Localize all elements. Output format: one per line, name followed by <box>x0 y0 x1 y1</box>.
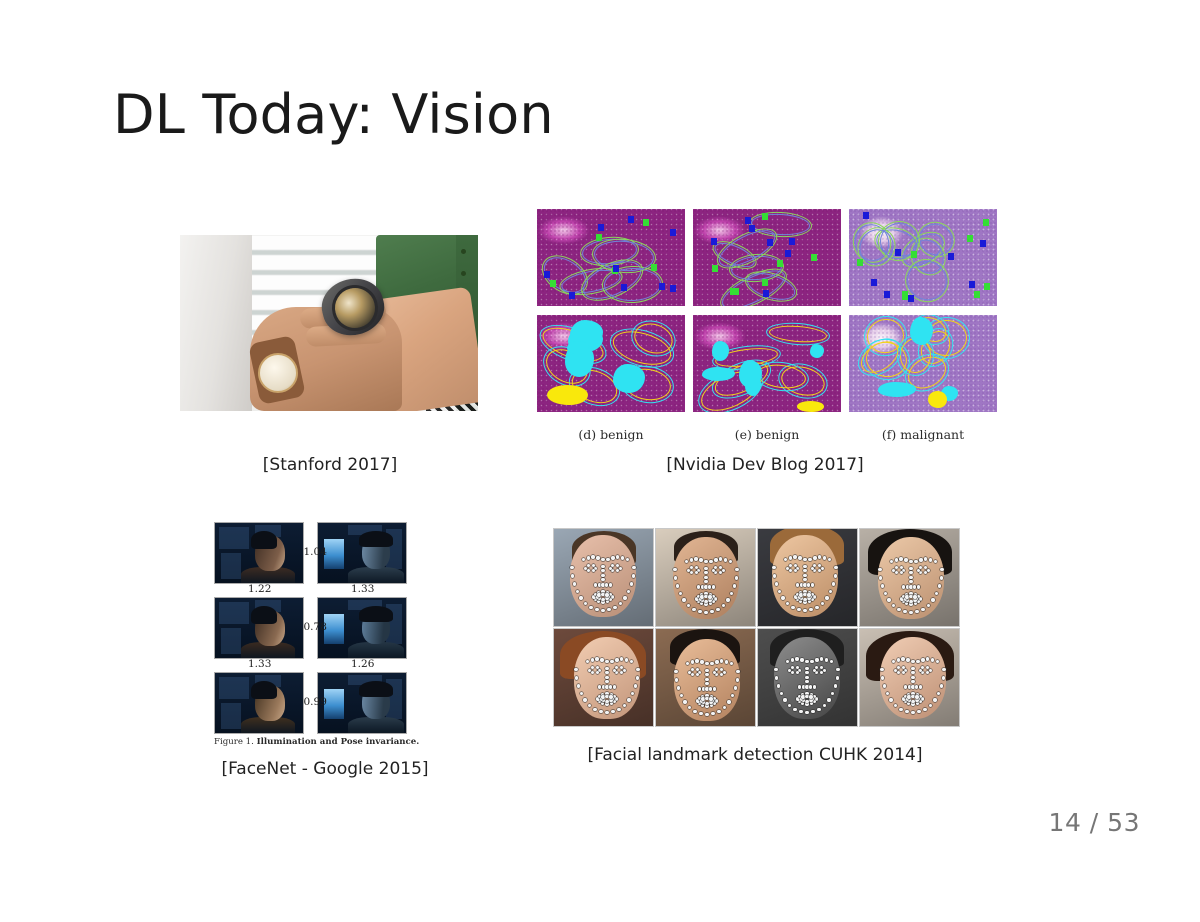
landmark-point <box>811 567 814 570</box>
landmark-point <box>713 687 716 690</box>
nucleus-marker-blue <box>621 284 627 291</box>
landmark-point <box>601 598 604 601</box>
nucleus-marker-green <box>911 251 917 258</box>
face-landmark-cell <box>859 628 960 727</box>
nucleus-marker-green <box>983 219 989 226</box>
nucleus-marker-green <box>857 259 863 266</box>
landmark-point <box>712 585 715 588</box>
landmark-point <box>815 658 818 661</box>
landmark-point <box>735 576 738 579</box>
landmark-point <box>811 710 814 713</box>
landmark-point <box>611 710 614 713</box>
nucleus-marker-green <box>550 280 556 287</box>
face-landmark-cell <box>553 628 654 727</box>
landmark-point <box>619 602 622 605</box>
landmark-point <box>791 658 794 661</box>
landmark-point <box>596 556 599 559</box>
landmark-point <box>911 676 914 679</box>
nucleus-marker-blue <box>884 291 890 298</box>
landmark-point <box>906 658 909 661</box>
landmark-point <box>605 593 608 596</box>
landmark-point <box>605 583 608 586</box>
segmentation-blob-cyan <box>739 360 762 388</box>
landmark-point <box>915 685 918 688</box>
landmark-point <box>803 574 806 577</box>
landmark-point <box>704 567 707 570</box>
landmark-point <box>704 576 707 579</box>
landmark-point <box>601 695 604 698</box>
landmark-point <box>676 584 679 587</box>
facenet-face-cell <box>317 672 407 734</box>
landmark-point <box>613 685 616 688</box>
landmark-point <box>722 569 725 572</box>
facenet-distance-below-left-2: 1.33 <box>248 658 271 670</box>
landmark-point <box>799 593 802 596</box>
nucleus-marker-blue <box>628 216 634 223</box>
landmark-point <box>778 590 781 593</box>
nucleus-marker-blue <box>670 229 676 236</box>
facenet-figure-caption: Figure 1. Illumination and Pose invarian… <box>214 737 419 747</box>
facenet-face-cell <box>214 597 304 659</box>
landmark-point <box>773 574 776 577</box>
nucleus-marker-blue <box>948 253 954 260</box>
landmark-point <box>887 598 890 601</box>
nucleus-marker-blue <box>785 250 791 257</box>
landmark-point <box>704 560 707 563</box>
landmark-point <box>821 567 824 570</box>
facenet-distance-below-right-2: 1.26 <box>351 658 374 670</box>
landmark-point <box>595 657 598 660</box>
landmark-point <box>709 687 712 690</box>
landmark-point <box>895 558 898 561</box>
landmark-point <box>813 669 816 672</box>
nucleus-marker-blue <box>613 265 619 272</box>
landmark-point <box>705 678 708 681</box>
landmark-point <box>692 608 695 611</box>
nucleus-marker-blue <box>749 225 755 232</box>
landmark-point <box>929 669 932 672</box>
segmentation-blob-yellow <box>928 391 947 407</box>
landmark-point <box>914 560 917 563</box>
landmark-point <box>881 676 884 679</box>
sweater-button <box>461 249 466 254</box>
landmark-point <box>915 610 918 613</box>
landmark-point <box>573 582 576 585</box>
landmark-point <box>683 700 686 703</box>
landmark-point <box>708 595 711 598</box>
landmark-point <box>682 598 685 601</box>
landmark-point <box>797 608 800 611</box>
equipment-rack <box>219 527 249 549</box>
landmark-point <box>911 660 914 663</box>
nucleus-marker-blue <box>980 240 986 247</box>
histology-sublabel: (f) malignant <box>849 427 997 442</box>
landmark-point <box>803 593 806 596</box>
landmark-point <box>813 556 816 559</box>
landmark-point <box>921 658 924 661</box>
landmark-point <box>704 600 707 603</box>
landmark-point <box>704 595 707 598</box>
landmark-point <box>927 569 930 572</box>
landmark-point <box>917 569 920 572</box>
landmark-point <box>909 611 912 614</box>
landmark-point <box>597 593 600 596</box>
landmark-point <box>619 567 622 570</box>
landmark-point <box>693 710 696 713</box>
landmark-point <box>805 711 808 714</box>
nucleus-marker-green <box>811 254 817 261</box>
landmark-point <box>901 657 904 660</box>
landmark-point <box>909 560 912 563</box>
sweater-button <box>461 271 466 276</box>
segmentation-blob-cyan <box>878 382 916 396</box>
landmark-point <box>675 678 678 681</box>
landmark-point <box>709 697 712 700</box>
landmark-point <box>712 569 715 572</box>
landmark-point <box>591 555 594 558</box>
landmark-point <box>698 610 701 613</box>
landmark-point <box>605 695 608 698</box>
segmentation-blob-yellow <box>547 385 588 405</box>
landmark-point <box>927 604 930 607</box>
landmark-point <box>610 660 613 663</box>
landmark-point <box>587 556 590 559</box>
stanford-dermatoscope-image <box>180 235 478 411</box>
landmark-point <box>617 708 620 711</box>
subject-hair <box>359 606 393 622</box>
landmark-point <box>800 658 803 661</box>
landmark-point <box>679 592 682 595</box>
landmark-point <box>677 686 680 689</box>
landmark-point <box>605 711 608 714</box>
histology-sublabel: (d) benign <box>537 427 685 442</box>
landmark-point <box>605 660 608 663</box>
landmark-point <box>607 608 610 611</box>
computer-monitor <box>324 539 344 569</box>
caption-stanford: [Stanford 2017] <box>180 455 480 475</box>
landmark-point <box>889 698 892 701</box>
landmark-point <box>803 558 806 561</box>
landmark-point <box>809 685 812 688</box>
landmark-point <box>899 708 902 711</box>
landmark-point <box>711 712 714 715</box>
landmark-point <box>907 695 910 698</box>
landmark-point <box>815 606 818 609</box>
landmark-point <box>717 710 720 713</box>
landmark-point <box>803 609 806 612</box>
landmark-point <box>700 595 703 598</box>
segmentation-blob-cyan <box>702 367 735 381</box>
subject-hair <box>359 531 393 547</box>
landmark-point <box>705 662 708 665</box>
landmark-point <box>716 608 719 611</box>
landmark-point <box>940 576 943 579</box>
landmark-point <box>615 658 618 661</box>
landmark-point <box>704 611 707 614</box>
landmark-point <box>919 558 922 561</box>
landmark-point <box>601 574 604 577</box>
landmark-point <box>789 556 792 559</box>
landmark-point <box>897 658 900 661</box>
landmark-point <box>710 610 713 613</box>
landmark-point <box>708 585 711 588</box>
caption-nvidia: [Nvidia Dev Blog 2017] <box>610 455 920 475</box>
nucleus-marker-green <box>733 288 739 295</box>
landmark-point <box>825 596 828 599</box>
figure-caption-bold: Illumination and Pose invariance. <box>257 737 420 747</box>
landmark-point <box>593 708 596 711</box>
nucleus-marker-green <box>643 219 649 226</box>
landmark-point <box>705 669 708 672</box>
landmark-point <box>807 593 810 596</box>
face-landmark-cell <box>757 528 858 627</box>
landmark-point <box>909 576 912 579</box>
cuhk-facial-landmark-figure <box>553 528 958 727</box>
landmark-point <box>699 712 702 715</box>
landmark-point <box>836 676 839 679</box>
nucleus-marker-green <box>967 235 973 242</box>
landmark-point <box>809 608 812 611</box>
figure-caption-prefix: Figure 1. <box>214 737 257 747</box>
landmark-point <box>606 558 609 561</box>
landmark-point <box>911 695 914 698</box>
landmark-point <box>589 606 592 609</box>
landmark-point <box>601 558 604 561</box>
landmark-point <box>571 574 574 577</box>
nucleus-marker-blue <box>789 238 795 245</box>
nucleus-marker-blue <box>569 292 575 299</box>
landmark-point <box>886 692 889 695</box>
landmark-point <box>899 557 902 560</box>
landmark-point <box>834 574 837 577</box>
landmark-point <box>798 556 801 559</box>
nucleus-marker-blue <box>711 238 717 245</box>
landmark-point <box>674 576 677 579</box>
landmark-point <box>942 676 945 679</box>
landmark-point <box>705 697 708 700</box>
landmark-point <box>611 556 614 559</box>
landmark-point <box>904 558 907 561</box>
landmark-point <box>694 557 697 560</box>
landmark-point <box>810 660 813 663</box>
landmark-point <box>805 660 808 663</box>
landmark-point <box>911 667 914 670</box>
landmark-point <box>777 684 780 687</box>
equipment-rack <box>221 628 241 654</box>
histology-cell <box>693 315 841 412</box>
computer-monitor <box>324 689 344 719</box>
facenet-face-cell <box>317 597 407 659</box>
landmark-point <box>783 698 786 701</box>
nucleus-marker-blue <box>659 283 665 290</box>
nucleus-marker-green <box>651 264 657 271</box>
landmark-point <box>722 604 725 607</box>
landmark-point <box>913 585 916 588</box>
equipment-rack <box>221 553 241 579</box>
landmark-point <box>710 662 713 665</box>
landmark-point <box>903 610 906 613</box>
face-landmark-cell <box>655 528 756 627</box>
landmark-point <box>613 606 616 609</box>
nucleus-marker-blue <box>767 239 773 246</box>
landmark-point <box>911 700 914 703</box>
landmark-point <box>931 598 934 601</box>
wristwatch-face <box>258 353 298 393</box>
landmark-point <box>917 710 920 713</box>
equipment-rack <box>219 602 249 624</box>
landmark-point <box>921 608 924 611</box>
landmark-point <box>736 678 739 681</box>
facenet-distance-between-pair-3: 0.99 <box>304 696 327 708</box>
landmark-point <box>591 658 594 661</box>
nucleus-marker-blue <box>598 224 604 231</box>
landmark-point <box>623 669 626 672</box>
landmark-point <box>805 695 808 698</box>
facenet-distance-between-pair-1: 1.04 <box>304 546 327 558</box>
landmark-point <box>811 583 814 586</box>
landmark-point <box>823 669 826 672</box>
landmark-point <box>775 582 778 585</box>
landmark-point <box>823 704 826 707</box>
landmark-point <box>909 567 912 570</box>
landmark-point <box>919 669 922 672</box>
nucleus-marker-green <box>712 265 718 272</box>
landmark-point <box>695 659 698 662</box>
subject-hair <box>251 606 277 624</box>
landmark-point <box>705 713 708 716</box>
subject-shoulders <box>348 567 404 584</box>
equipment-rack <box>221 703 241 729</box>
facenet-face-cell <box>214 672 304 734</box>
landmark-point <box>801 695 804 698</box>
landmark-point <box>916 660 919 663</box>
nvidia-histology-figure: (d) benign(e) benign(f) malignant <box>537 209 997 412</box>
landmark-point <box>803 598 806 601</box>
facenet-distance-between-pair-2: 0.78 <box>304 621 327 633</box>
histology-cell <box>849 315 997 412</box>
page-number: 14 / 53 <box>1049 808 1140 837</box>
computer-monitor <box>324 614 344 644</box>
face-landmark-cell <box>859 528 960 627</box>
landmark-point <box>879 576 882 579</box>
nucleus-marker-blue <box>863 212 869 219</box>
face-landmark-cell <box>553 528 654 627</box>
facenet-figure: 1.040.780.991.221.331.331.26 <box>214 522 454 752</box>
nucleus-marker-blue <box>969 281 975 288</box>
subject-shoulders <box>348 717 404 734</box>
nucleus-marker-blue <box>544 271 550 278</box>
nucleus-marker-blue <box>745 217 751 224</box>
subject-shoulders <box>348 642 404 659</box>
landmark-point <box>805 700 808 703</box>
landmark-point <box>699 558 702 561</box>
landmark-point <box>579 596 582 599</box>
page-title: DL Today: Vision <box>113 83 554 146</box>
landmark-point <box>821 602 824 605</box>
nucleus-marker-green <box>777 260 783 267</box>
landmark-point <box>909 595 912 598</box>
landmark-point <box>595 608 598 611</box>
landmark-point <box>623 596 626 599</box>
landmark-point <box>705 702 708 705</box>
landmark-point <box>897 608 900 611</box>
landmark-point <box>576 590 579 593</box>
facenet-face-cell <box>317 522 407 584</box>
landmark-point <box>929 704 932 707</box>
landmark-point <box>690 558 693 561</box>
landmark-point <box>881 584 884 587</box>
landmark-point <box>775 676 778 679</box>
landmark-point <box>700 660 703 663</box>
landmark-point <box>723 671 726 674</box>
landmark-point <box>813 685 816 688</box>
landmark-point <box>609 583 612 586</box>
landmark-point <box>919 685 922 688</box>
landmark-point <box>809 695 812 698</box>
landmark-point <box>632 574 635 577</box>
facenet-distance-below-right-1: 1.33 <box>351 583 374 595</box>
landmark-point <box>709 560 712 563</box>
landmark-point <box>577 684 580 687</box>
landmark-point <box>805 676 808 679</box>
landmark-point <box>923 708 926 711</box>
landmark-point <box>917 585 920 588</box>
histology-cell <box>693 209 841 306</box>
landmark-point <box>781 596 784 599</box>
histology-sublabel: (e) benign <box>693 427 841 442</box>
nucleus-marker-green <box>762 213 768 220</box>
face-landmark-cell <box>655 628 756 727</box>
equipment-rack <box>219 677 249 699</box>
histology-cell <box>537 209 685 306</box>
nucleus-marker-blue <box>895 249 901 256</box>
landmark-point <box>905 595 908 598</box>
landmark-point <box>583 698 586 701</box>
landmark-point <box>605 700 608 703</box>
landmark-point <box>807 583 810 586</box>
landmark-point <box>701 697 704 700</box>
doctor-lab-coat <box>180 235 252 411</box>
landmark-point <box>609 567 612 570</box>
landmark-point <box>580 692 583 695</box>
landmark-point <box>714 558 717 561</box>
landmark-point <box>715 660 718 663</box>
facenet-face-cell <box>214 522 304 584</box>
facenet-distance-below-left-1: 1.22 <box>248 583 271 595</box>
landmark-point <box>726 598 729 601</box>
landmark-point <box>727 700 730 703</box>
landmark-point <box>627 698 630 701</box>
landmark-point <box>883 684 886 687</box>
landmark-point <box>605 676 608 679</box>
landmark-point <box>601 609 604 612</box>
landmark-point <box>691 660 694 663</box>
nucleus-marker-green <box>974 291 980 298</box>
landmark-point <box>827 698 830 701</box>
landmark-point <box>605 667 608 670</box>
landmark-point <box>609 685 612 688</box>
landmark-point <box>609 695 612 698</box>
landmark-point <box>636 676 639 679</box>
landmark-point <box>805 667 808 670</box>
landmark-point <box>933 698 936 701</box>
landmark-point <box>911 711 914 714</box>
landmark-point <box>799 710 802 713</box>
subject-hair <box>251 681 277 699</box>
landmark-point <box>623 704 626 707</box>
landmark-point <box>884 592 887 595</box>
landmark-point <box>680 694 683 697</box>
